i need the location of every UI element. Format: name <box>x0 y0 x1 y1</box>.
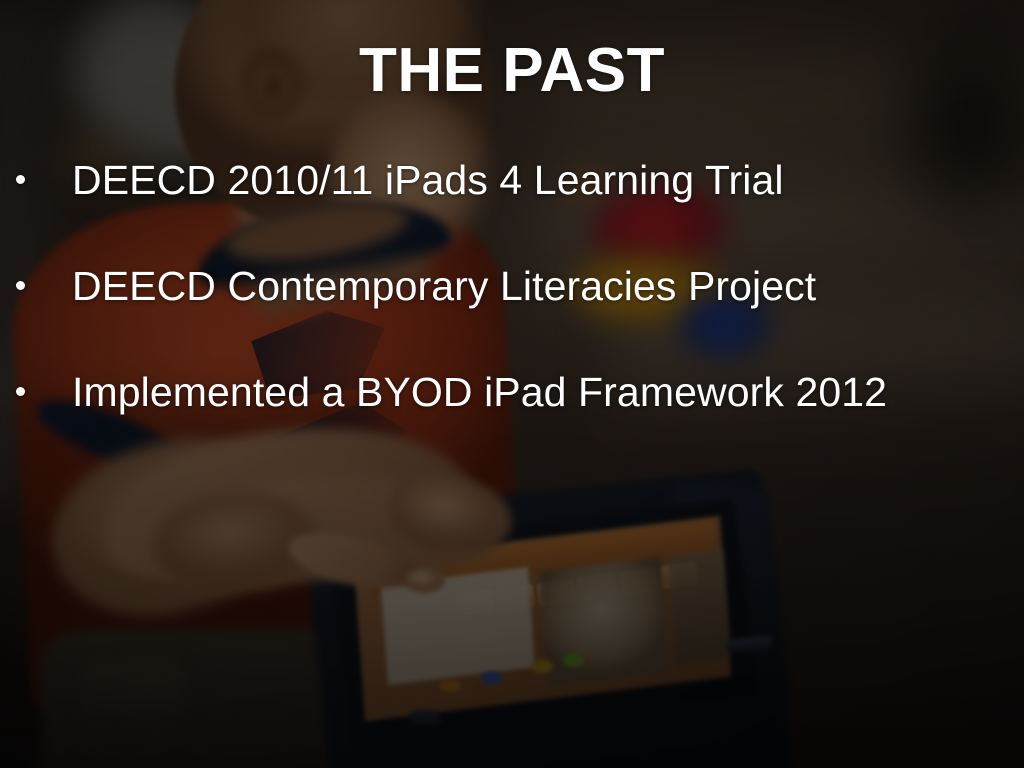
slide-content: THE PAST DEECD 2010/11 iPads 4 Learning … <box>0 0 1024 768</box>
bullet-item-3-label: Implemented a BYOD iPad Framework 2012 <box>72 370 1024 415</box>
slide-title: THE PAST <box>0 38 1024 103</box>
bullet-dot-icon <box>16 175 25 184</box>
bullet-item-2-label: DEECD Contemporary Literacies Project <box>72 264 1024 309</box>
bullet-item-2: DEECD Contemporary Literacies Project <box>0 264 1024 370</box>
bullet-dot-icon <box>16 281 25 290</box>
bullet-dot-icon <box>16 387 25 396</box>
bullet-item-3: Implemented a BYOD iPad Framework 2012 <box>0 370 1024 476</box>
bullet-list: DEECD 2010/11 iPads 4 Learning Trial DEE… <box>0 158 1024 476</box>
bullet-item-1: DEECD 2010/11 iPads 4 Learning Trial <box>0 158 1024 264</box>
bullet-item-1-label: DEECD 2010/11 iPads 4 Learning Trial <box>72 158 1024 203</box>
presentation-slide: THE PAST DEECD 2010/11 iPads 4 Learning … <box>0 0 1024 768</box>
